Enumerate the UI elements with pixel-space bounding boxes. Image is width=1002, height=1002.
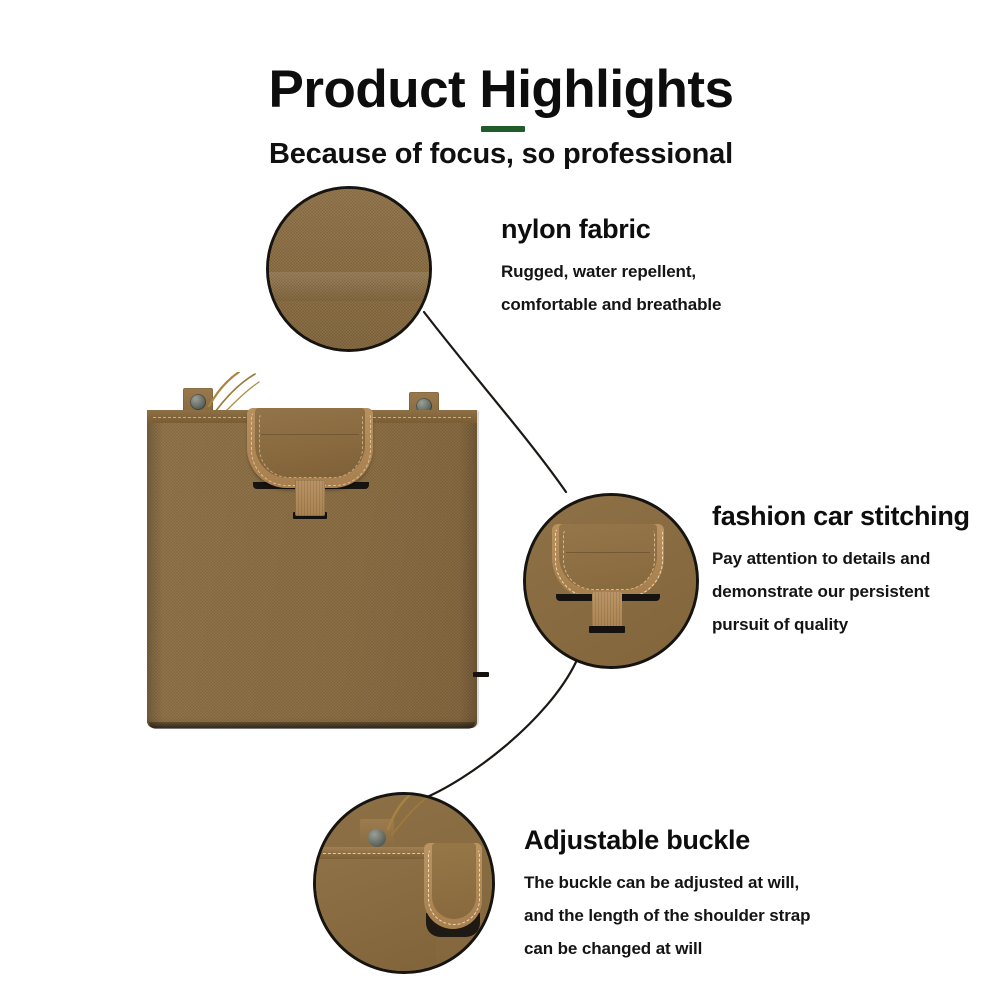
callout-line: Pay attention to details and [712,542,970,575]
page-subtitle: Because of focus, so professional [0,138,1002,171]
detail-circle-fashion-car-stitching[interactable] [523,493,699,669]
callout-nylon-fabric: nylon fabric Rugged, water repellent, co… [501,215,721,321]
callout-heading: nylon fabric [501,215,721,245]
callout-line: pursuit of quality [712,608,970,641]
flap-stitching-closeup [526,496,696,666]
product-image [143,372,483,728]
side-tab [473,672,489,677]
fabric-weave-texture [269,189,429,349]
bag-right-shading [459,410,479,728]
callout-line: comfortable and breathable [501,288,721,321]
callout-line: demonstrate our persistent [712,575,970,608]
drawcord-icon [316,795,492,971]
callout-fashion-car-stitching: fashion car stitching Pay attention to d… [712,502,970,641]
snap-buckle-closeup [316,795,492,971]
callout-line: The buckle can be adjusted at will, [524,866,810,899]
infographic-canvas: Product Highlights Because of focus, so … [0,0,1002,1002]
bag-left-shading [147,410,163,728]
bag-bottom-edge [149,722,475,729]
callout-line: and the length of the shoulder strap [524,899,810,932]
detail-circle-adjustable-buckle[interactable] [313,792,495,974]
callout-line: can be changed at will [524,932,810,965]
page-title: Product Highlights [0,62,1002,118]
callout-heading: Adjustable buckle [524,826,810,856]
callout-heading: fashion car stitching [712,502,970,532]
detail-circle-nylon-fabric[interactable] [266,186,432,352]
callout-line: Rugged, water repellent, [501,255,721,288]
title-divider [481,126,525,132]
pull-tab [295,480,325,516]
flap-stitching-inner [259,414,363,478]
callout-adjustable-buckle: Adjustable buckle The buckle can be adju… [524,826,810,965]
